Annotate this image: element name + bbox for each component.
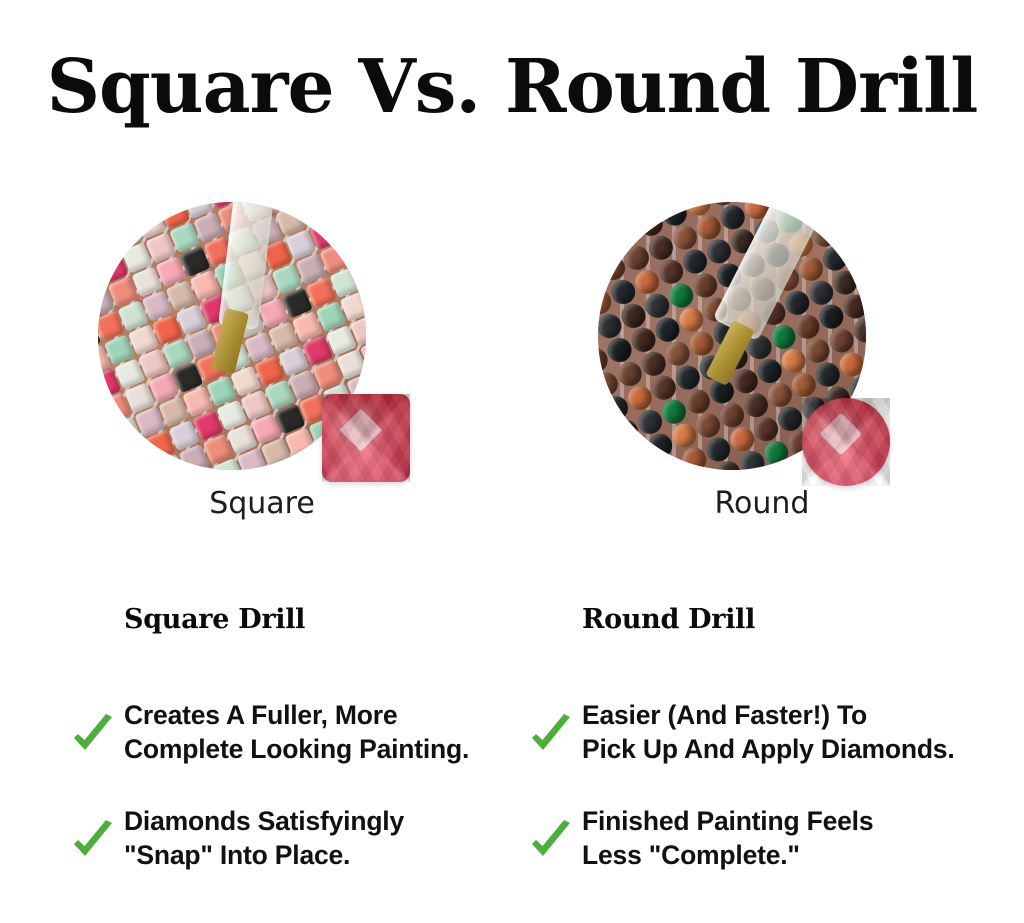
benefit-text: Finished Painting Feels Less "Complete." <box>582 804 968 872</box>
check-icon <box>72 714 114 756</box>
square-photo-caption: Square <box>52 486 472 522</box>
round-drill-column: Round Drill Easier (And Faster!) To Pick… <box>528 604 968 910</box>
benefit-item: Easier (And Faster!) To Pick Up And Appl… <box>528 698 968 776</box>
round-drill-heading: Round Drill <box>582 604 968 636</box>
check-icon <box>530 820 572 862</box>
square-drill-column: Square Drill Creates A Fuller, More Comp… <box>70 604 510 910</box>
round-gem-icon <box>802 398 890 486</box>
square-drill-heading: Square Drill <box>124 604 510 636</box>
round-photo-caption: Round <box>552 486 972 522</box>
round-drill-panel: Round <box>552 196 972 536</box>
benefit-text: Easier (And Faster!) To Pick Up And Appl… <box>582 698 968 766</box>
benefit-item: Diamonds Satisfyingly "Snap" Into Place. <box>70 804 510 882</box>
square-drill-panel: Square <box>52 196 472 536</box>
benefit-text: Diamonds Satisfyingly "Snap" Into Place. <box>124 804 510 872</box>
benefit-item: Finished Painting Feels Less "Complete." <box>528 804 968 882</box>
check-icon <box>530 714 572 756</box>
square-gem-icon <box>322 394 410 482</box>
benefit-item: Creates A Fuller, More Complete Looking … <box>70 698 510 776</box>
check-icon <box>72 820 114 862</box>
round-photo-wrap <box>598 202 866 470</box>
page-title: Square Vs. Round Drill <box>0 48 1024 126</box>
benefit-text: Creates A Fuller, More Complete Looking … <box>124 698 510 766</box>
square-photo-wrap <box>98 202 366 470</box>
